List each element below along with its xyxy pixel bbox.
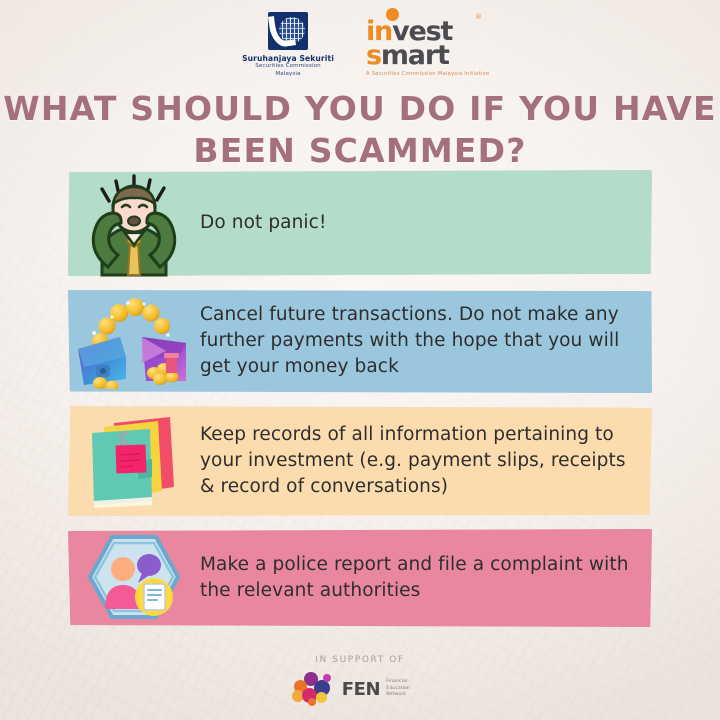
list-item: Keep records of all information pertaini… [68,406,652,516]
list-item-label: Do not panic! [200,210,340,236]
folders-with-note-icon [68,406,200,516]
list-item-label: Keep records of all information pertaini… [200,422,652,501]
fen-subtitle: Financial Education Network [386,679,428,700]
smart-prefix: s [366,40,381,71]
list-item-label: Make a police report and file a complain… [200,552,652,605]
page-title: WHAT SHOULD YOU DO IF YOU HAVE BEEN SCAM… [0,88,720,172]
title-line-1: WHAT SHOULD YOU DO IF YOU HAVE [0,88,720,130]
panicking-man-icon [68,170,200,276]
registered-mark: ® [475,13,482,21]
support-label: IN SUPPORT OF [315,655,405,665]
footer: IN SUPPORT OF FEN Financial Education Ne… [0,655,720,706]
title-line-2: BEEN SCAMMED? [0,130,720,172]
sc-globe-swoosh-icon [268,12,308,50]
list-item: Make a police report and file a complain… [68,529,652,627]
poster-canvas: Suruhanjaya Sekuriti Securities Commissi… [0,0,720,720]
smart-suffix: mart [381,40,449,71]
list-item-label: Cancel future transactions. Do not make … [200,302,652,381]
sc-logo-subtitle-1: Securities Commission [255,63,321,71]
investsmart-word-smart: smart [366,44,449,68]
police-report-person-icon [68,529,200,627]
sc-logo-subtitle-2: Malaysia [275,71,300,79]
advice-list: Do not panic! [0,170,720,640]
fen-bubbles-icon [292,672,336,706]
fen-wordmark: FEN [342,679,380,700]
sc-logo-name: Suruhanjaya Sekuriti [242,54,334,63]
investsmart-logo: ® invest smart A Securities Commission M… [366,8,484,77]
list-item: Do not panic! [68,170,652,276]
wallets-with-coins-icon [68,289,200,393]
header-logos: Suruhanjaya Sekuriti Securities Commissi… [0,8,720,86]
fen-logo: FEN Financial Education Network [292,672,428,706]
securities-commission-logo: Suruhanjaya Sekuriti Securities Commissi… [236,8,340,79]
investsmart-tagline: A Securities Commission Malaysia Initiat… [366,71,489,77]
list-item: Cancel future transactions. Do not make … [68,289,652,393]
